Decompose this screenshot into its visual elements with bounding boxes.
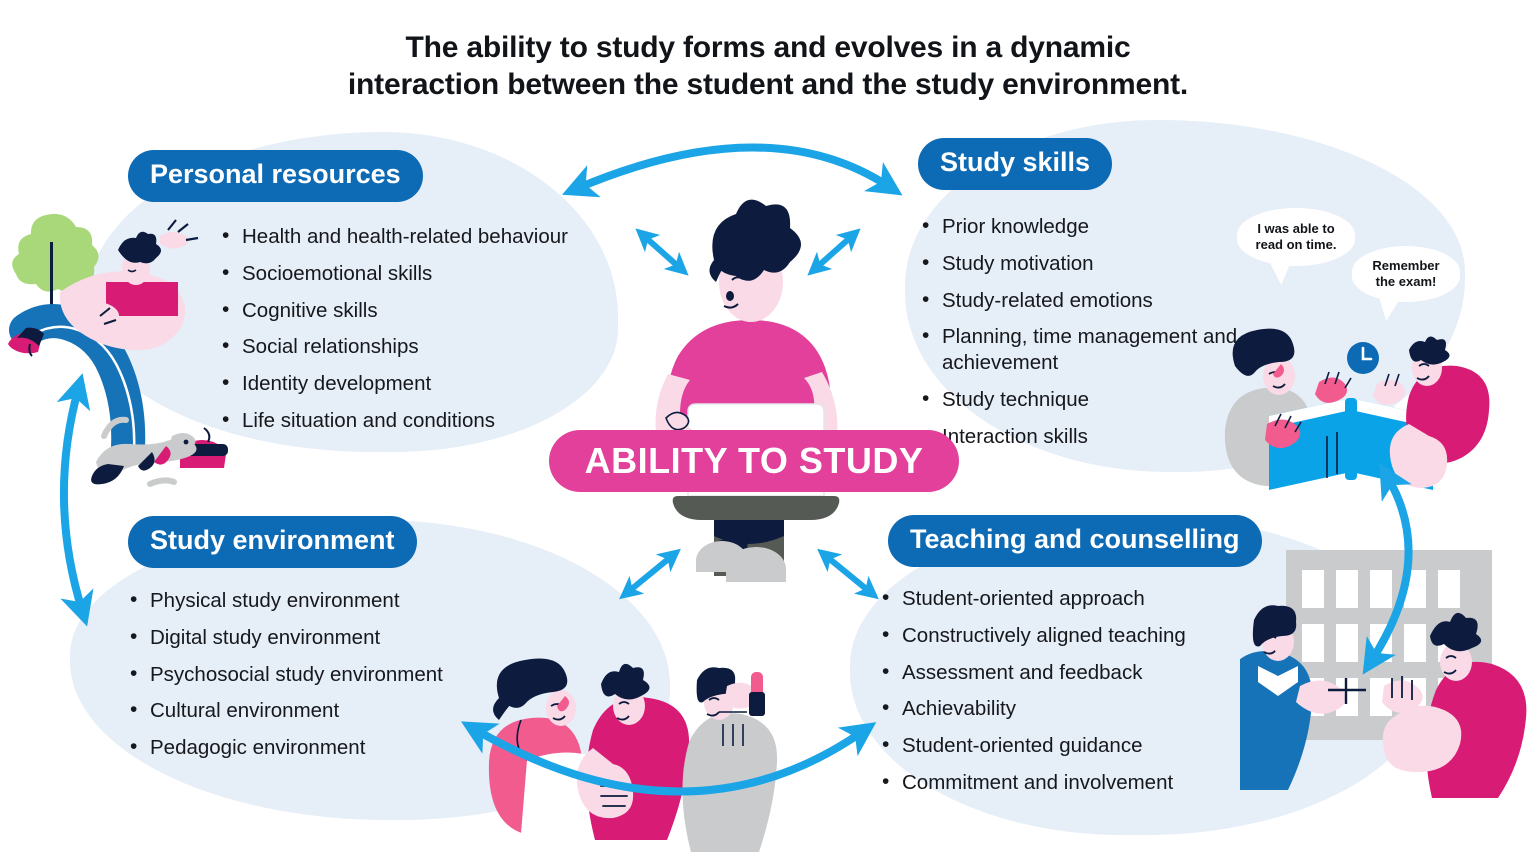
list-item: Socioemotional skills: [220, 261, 572, 287]
list-item: Psychosocial study environment: [128, 662, 528, 688]
list-item: Planning, time management and achievemen…: [920, 324, 1320, 376]
list-item: Commitment and involvement: [880, 770, 1280, 796]
list-item: Interaction skills: [920, 424, 1320, 450]
list-item: Identity development: [220, 371, 572, 397]
list-item: Student-oriented approach: [880, 586, 1280, 612]
list-item: Physical study environment: [128, 588, 528, 614]
list-item: Cultural environment: [128, 698, 528, 724]
section-title-teaching-and-counselling[interactable]: Teaching and counselling: [888, 515, 1262, 567]
list-item: Social relationships: [220, 334, 572, 360]
section-title-study-skills[interactable]: Study skills: [918, 138, 1112, 190]
list-teaching-and-counselling: Student-oriented approach Constructively…: [880, 586, 1280, 807]
speech-bubble-line-2: read on time.: [1256, 237, 1337, 252]
speech-bubble-line-2: the exam!: [1376, 274, 1437, 289]
speech-bubble-line-1: I was able to: [1257, 221, 1334, 236]
list-study-environment: Physical study environment Digital study…: [128, 588, 528, 772]
center-badge-ability-to-study[interactable]: ABILITY TO STUDY: [549, 430, 959, 492]
list-item: Achievability: [880, 696, 1280, 722]
list-item: Cognitive skills: [220, 298, 572, 324]
section-title-study-environment[interactable]: Study environment: [128, 516, 417, 568]
list-item: Life situation and conditions: [220, 408, 572, 434]
list-item: Study-related emotions: [920, 288, 1320, 314]
list-personal-resources: Health and health-related behaviour Soci…: [220, 224, 572, 445]
infographic-canvas: The ability to study forms and evolves i…: [0, 0, 1536, 864]
illustration-center-student: [596, 196, 916, 626]
list-item: Health and health-related behaviour: [220, 224, 572, 250]
list-item: Assessment and feedback: [880, 660, 1280, 686]
center-badge-label: ABILITY TO STUDY: [585, 440, 924, 482]
arrow-top-arc: [578, 147, 888, 188]
speech-bubble-remember-exam: Remember the exam!: [1352, 246, 1460, 302]
list-item: Study technique: [920, 387, 1320, 413]
speech-bubble-read-on-time: I was able to read on time.: [1237, 208, 1355, 266]
speech-bubble-line-1: Remember: [1372, 258, 1439, 273]
page-title-line-2: interaction between the student and the …: [0, 67, 1536, 104]
list-item: Constructively aligned teaching: [880, 623, 1280, 649]
clock-icon: [1347, 342, 1379, 374]
list-item: Student-oriented guidance: [880, 733, 1280, 759]
illustration-bottom-right: [1240, 540, 1536, 800]
illustration-top-left: [0, 200, 240, 500]
list-item: Pedagogic environment: [128, 735, 528, 761]
section-title-personal-resources[interactable]: Personal resources: [128, 150, 423, 202]
page-title: The ability to study forms and evolves i…: [0, 30, 1536, 103]
list-item: Digital study environment: [128, 625, 528, 651]
page-title-line-1: The ability to study forms and evolves i…: [406, 31, 1131, 64]
